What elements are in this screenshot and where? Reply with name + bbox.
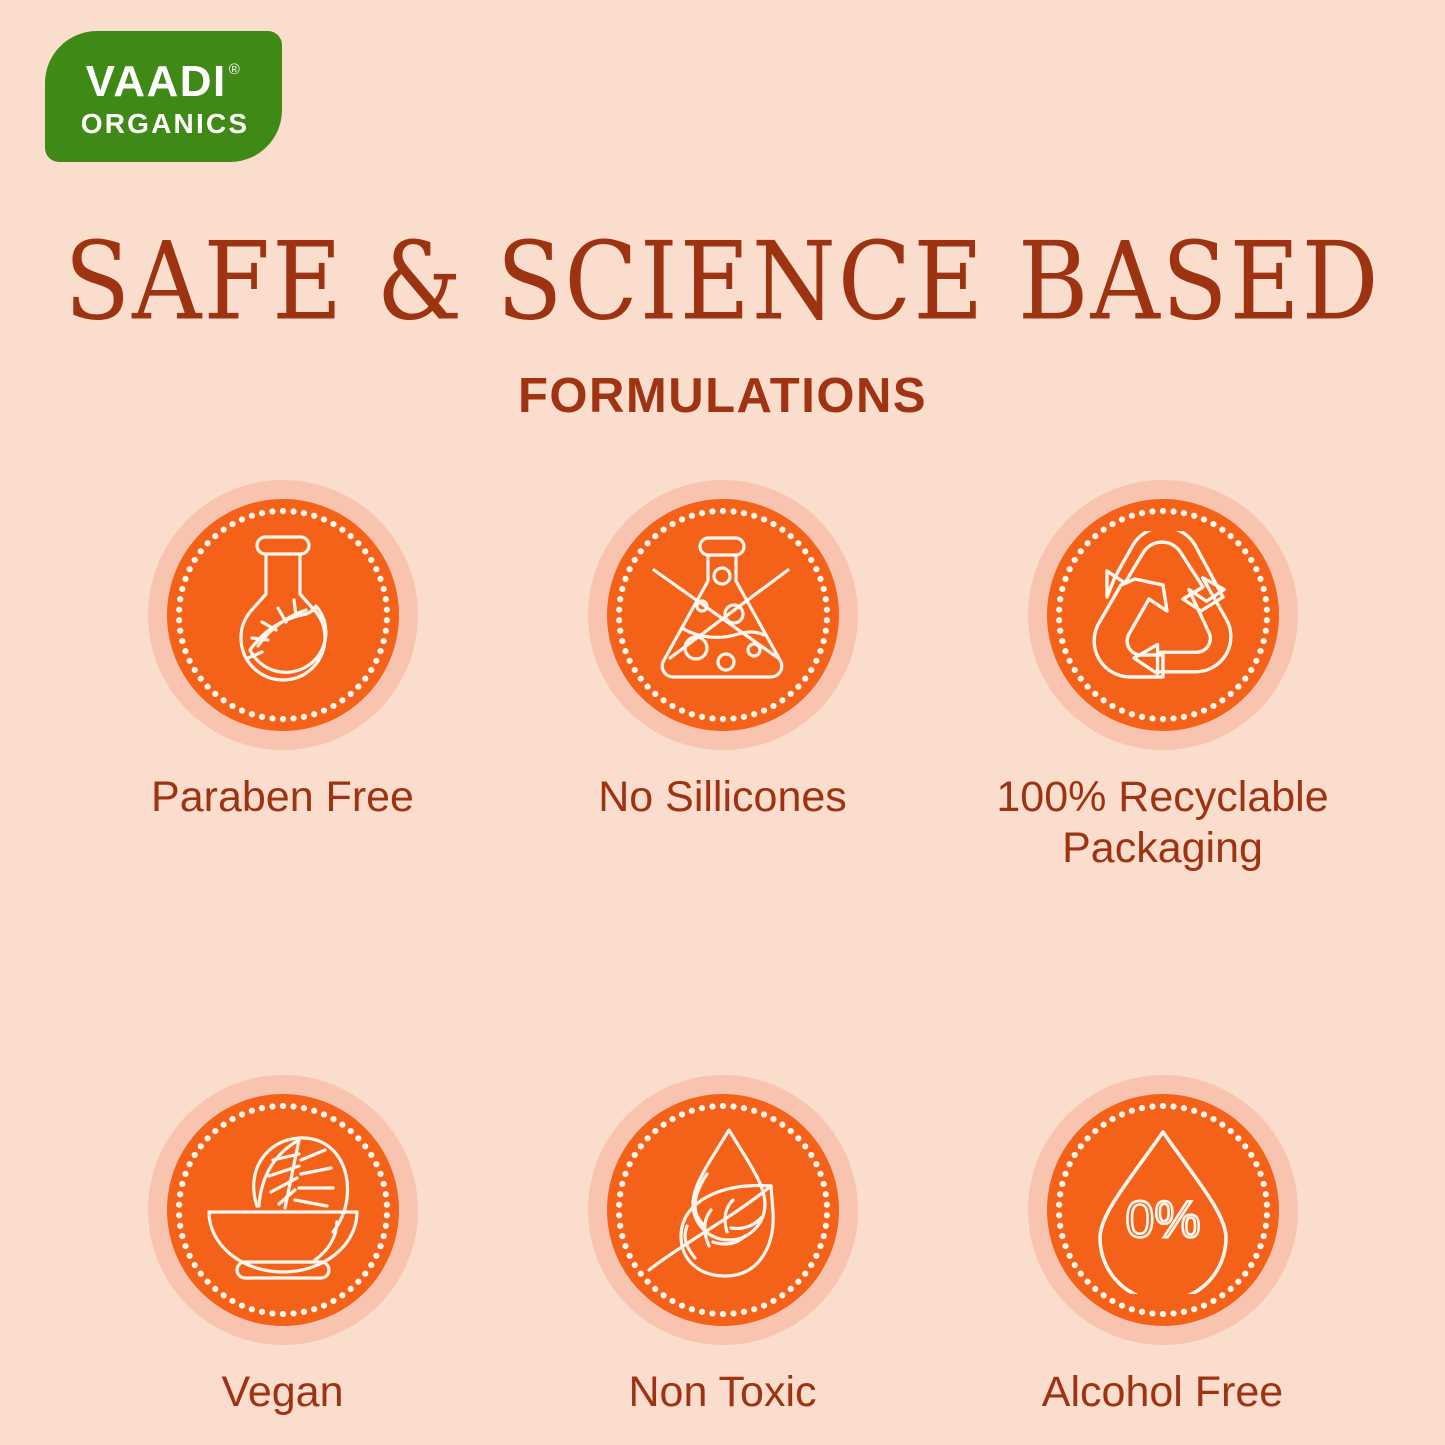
logo-subtitle: ORGANICS bbox=[81, 110, 250, 138]
badge-row-2: Vegan Non Toxic bbox=[0, 1075, 1445, 1418]
droplet-leaf-icon bbox=[607, 1094, 839, 1326]
logo-name: VAADI bbox=[86, 60, 227, 104]
badge-circle bbox=[588, 1075, 858, 1345]
badge-label: Alcohol Free bbox=[1042, 1367, 1283, 1418]
badge-circle bbox=[588, 480, 858, 750]
zero-percent-text: 0% bbox=[1125, 1191, 1200, 1249]
badge-item-alcohol-free: 0% Alcohol Free bbox=[943, 1075, 1383, 1418]
feature-badge-grid: Paraben Free bbox=[0, 480, 1445, 1418]
page-subtitle: FORMULATIONS bbox=[0, 372, 1445, 421]
badge-item-recyclable-packaging: 100% Recyclable Packaging bbox=[943, 480, 1383, 873]
badge-item-no-sillicones: No Sillicones bbox=[503, 480, 943, 823]
badge-label: No Sillicones bbox=[598, 772, 847, 823]
badge-circle bbox=[1028, 480, 1298, 750]
badge-circle bbox=[148, 480, 418, 750]
badge-circle: 0% bbox=[1028, 1075, 1298, 1345]
badge-item-non-toxic: Non Toxic bbox=[503, 1075, 943, 1418]
badge-label: Vegan bbox=[222, 1367, 344, 1418]
crossed-out-flask-icon bbox=[607, 499, 839, 731]
recycle-icon bbox=[1047, 499, 1279, 731]
brand-logo: VAADI® ORGANICS bbox=[45, 31, 282, 162]
badge-item-paraben-free: Paraben Free bbox=[63, 480, 503, 823]
registered-trademark-icon: ® bbox=[229, 62, 242, 77]
badge-label: Paraben Free bbox=[151, 772, 414, 823]
bowl-leaf-icon bbox=[167, 1094, 399, 1326]
droplet-zero-percent-icon: 0% bbox=[1047, 1094, 1279, 1326]
flask-leaf-icon bbox=[167, 499, 399, 731]
page-title: SAFE & SCIENCE BASED bbox=[0, 228, 1445, 336]
badge-circle bbox=[148, 1075, 418, 1345]
badge-label: Non Toxic bbox=[628, 1367, 816, 1418]
badge-label: 100% Recyclable Packaging bbox=[996, 772, 1328, 873]
badge-item-vegan: Vegan bbox=[63, 1075, 503, 1418]
logo-wordmark: VAADI® bbox=[86, 60, 242, 104]
badge-row-1: Paraben Free bbox=[0, 480, 1445, 873]
